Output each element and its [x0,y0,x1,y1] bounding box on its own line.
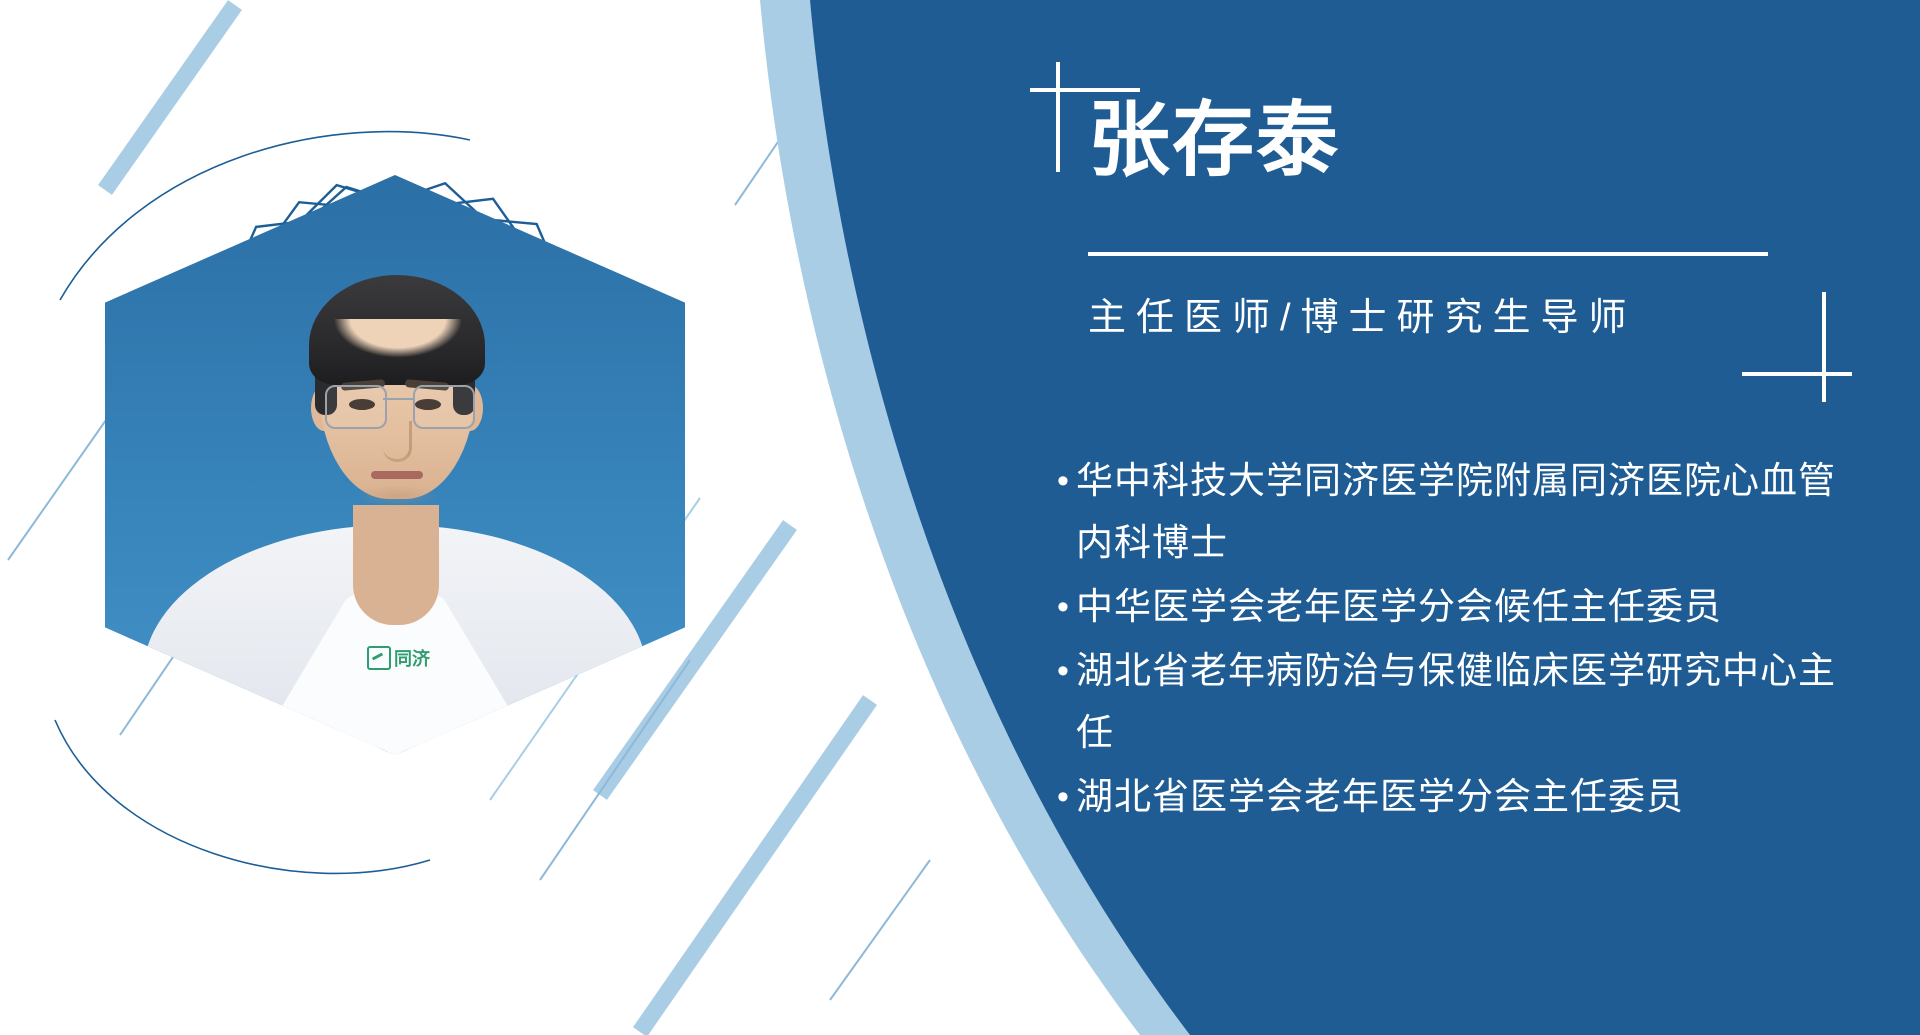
bullet-dot-icon: • [1050,576,1076,638]
tongji-logo-mark [367,646,391,670]
credentials-list: • 华中科技大学同济医学院附属同济医院心血管内科博士 • 中华医学会老年医学分会… [1050,450,1900,830]
bullet-dot-icon: • [1050,640,1076,702]
list-item: • 华中科技大学同济医学院附属同济医院心血管内科博士 [1050,450,1900,574]
slide-canvas: 同济 张存泰 主任医师/博士研究生导师 • 华中科技大学同济医学院附属同济医院心… [0,0,1920,1035]
hair [309,275,485,385]
portrait-photo: 同济 [105,175,685,755]
mouth [371,471,423,479]
corner-crosshair-top-left-icon [1030,62,1140,172]
profile-panel: 张存泰 主任医师/博士研究生导师 • 华中科技大学同济医学院附属同济医院心血管内… [1040,0,1920,1035]
credential-text: 湖北省医学会老年医学分会主任委员 [1076,766,1866,828]
portrait-clip: 同济 [105,175,685,755]
list-item: • 湖北省医学会老年医学分会主任委员 [1050,766,1900,828]
doctor-title: 主任医师/博士研究生导师 [1088,286,1637,341]
chin-shadow [355,485,439,507]
neck [353,505,439,625]
bullet-dot-icon: • [1050,766,1076,828]
credential-text: 华中科技大学同济医学院附属同济医院心血管内科博士 [1076,450,1866,574]
tongji-logo-text: 同济 [394,645,430,671]
lens-right [413,385,475,429]
nose [383,421,412,462]
credential-text: 中华医学会老年医学分会候任主任委员 [1076,576,1866,638]
glasses-bridge [383,398,413,400]
title-divider [1088,252,1768,256]
corner-crosshair-bottom-right-icon [1742,292,1852,402]
hospital-logo: 同济 [367,645,430,671]
bullet-dot-icon: • [1050,450,1076,512]
person-illustration: 同济 [105,175,685,755]
list-item: • 湖北省老年病防治与保健临床医学研究中心主任 [1050,640,1900,764]
list-item: • 中华医学会老年医学分会候任主任委员 [1050,576,1900,638]
credential-text: 湖北省老年病防治与保健临床医学研究中心主任 [1076,640,1866,764]
lens-left [325,385,387,429]
